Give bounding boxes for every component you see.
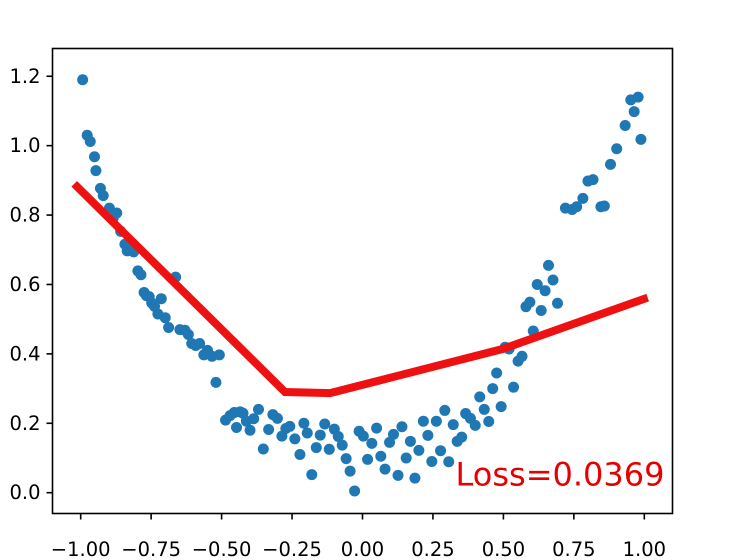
chart-annotations: Loss=0.0369 xyxy=(456,456,665,494)
scatter-point xyxy=(263,424,274,435)
scatter-point xyxy=(620,120,631,131)
scatter-point xyxy=(388,429,399,440)
y-tick-label: 1.0 xyxy=(9,134,40,157)
scatter-point xyxy=(470,420,481,431)
scatter-point xyxy=(474,391,485,402)
x-tick-label: 0.50 xyxy=(482,538,525,560)
x-tick-label: −0.75 xyxy=(121,538,181,560)
scatter-point xyxy=(98,190,109,201)
scatter-point xyxy=(294,449,305,460)
scatter-point xyxy=(633,92,644,103)
scatter-point xyxy=(341,453,352,464)
y-tick-label: 1.2 xyxy=(9,65,40,88)
x-tick-label: −0.25 xyxy=(262,538,322,560)
scatter-point xyxy=(543,260,554,271)
x-tick-label: 0.00 xyxy=(341,538,384,560)
scatter-point xyxy=(540,285,551,296)
scatter-point xyxy=(90,165,101,176)
scatter-point xyxy=(413,445,424,456)
scatter-point xyxy=(552,298,563,309)
scatter-point xyxy=(611,143,622,154)
scatter-point xyxy=(284,421,295,432)
scatter-point xyxy=(380,464,391,475)
scatter-point xyxy=(163,322,174,333)
scatter-point xyxy=(371,423,382,434)
scatter-point xyxy=(443,456,454,467)
scatter-point xyxy=(375,451,386,462)
scatter-point xyxy=(358,431,369,442)
scatter-point xyxy=(315,430,326,441)
y-tick-label: 0.4 xyxy=(9,342,40,365)
scatter-point xyxy=(349,485,360,496)
scatter-point xyxy=(214,349,225,360)
scatter-point xyxy=(629,106,640,117)
scatter-point xyxy=(298,418,309,429)
scatter-point xyxy=(439,405,450,416)
scatter-point xyxy=(418,416,429,427)
scatter-point xyxy=(345,466,356,477)
scatter-point xyxy=(311,442,322,453)
scatter-point xyxy=(599,201,610,212)
scatter-point xyxy=(456,432,467,443)
scatter-point xyxy=(393,470,404,481)
scatter-point xyxy=(409,473,420,484)
loss-label: Loss=0.0369 xyxy=(456,456,665,494)
x-tick-label: −1.00 xyxy=(51,538,111,560)
scatter-point xyxy=(536,305,547,316)
y-tick-label: 0.2 xyxy=(9,412,40,435)
scatter-point xyxy=(396,421,407,432)
scatter-point xyxy=(431,416,442,427)
scatter-point xyxy=(435,445,446,456)
scatter-point xyxy=(422,430,433,441)
x-tick-label: −0.50 xyxy=(192,538,252,560)
scatter-point xyxy=(577,193,588,204)
scatter-point xyxy=(77,74,88,85)
y-tick-label: 0.6 xyxy=(9,273,40,296)
scatter-point xyxy=(491,367,502,378)
scatter-point xyxy=(85,136,96,147)
scatter-point xyxy=(248,413,259,424)
scatter-point xyxy=(245,425,256,436)
scatter-point xyxy=(405,436,416,447)
x-tick-label: 1.00 xyxy=(623,538,666,560)
scatter-point xyxy=(258,443,269,454)
scatter-point xyxy=(508,382,519,393)
scatter-point xyxy=(160,312,171,323)
x-tick-label: 0.75 xyxy=(552,538,595,560)
x-tick-label: 0.25 xyxy=(411,538,454,560)
scatter-point xyxy=(366,438,377,449)
scatter-point xyxy=(306,469,317,480)
scatter-point xyxy=(524,297,535,308)
scatter-point xyxy=(496,401,507,412)
scatter-point xyxy=(89,151,100,162)
scatter-point xyxy=(362,454,373,465)
scatter-point xyxy=(605,159,616,170)
scatter-point xyxy=(448,419,459,430)
scatter-point xyxy=(426,456,437,467)
scatter-point xyxy=(302,427,313,438)
scatter-point xyxy=(272,413,283,424)
scatter-point xyxy=(548,274,559,285)
scatter-point xyxy=(231,422,242,433)
scatter-point xyxy=(210,377,221,388)
y-tick-label: 0.8 xyxy=(9,204,40,227)
scatter-point xyxy=(517,351,528,362)
scatter-point xyxy=(635,134,646,145)
scatter-point xyxy=(401,452,412,463)
scatter-point xyxy=(337,440,348,451)
scatter-point xyxy=(135,269,146,280)
scatter-point xyxy=(289,433,300,444)
scatter-point xyxy=(483,416,494,427)
chart-figure: −1.00−0.75−0.50−0.250.000.250.500.751.00… xyxy=(0,0,734,560)
scatter-point xyxy=(156,293,167,304)
scatter-point xyxy=(479,404,490,415)
scatter-point xyxy=(253,404,264,415)
scatter-point xyxy=(588,174,599,185)
y-tick-label: 0.0 xyxy=(9,481,40,504)
scatter-point xyxy=(487,383,498,394)
scatter-point xyxy=(319,418,330,429)
chart-canvas: −1.00−0.75−0.50−0.250.000.250.500.751.00… xyxy=(0,0,734,560)
scatter-point xyxy=(324,444,335,455)
